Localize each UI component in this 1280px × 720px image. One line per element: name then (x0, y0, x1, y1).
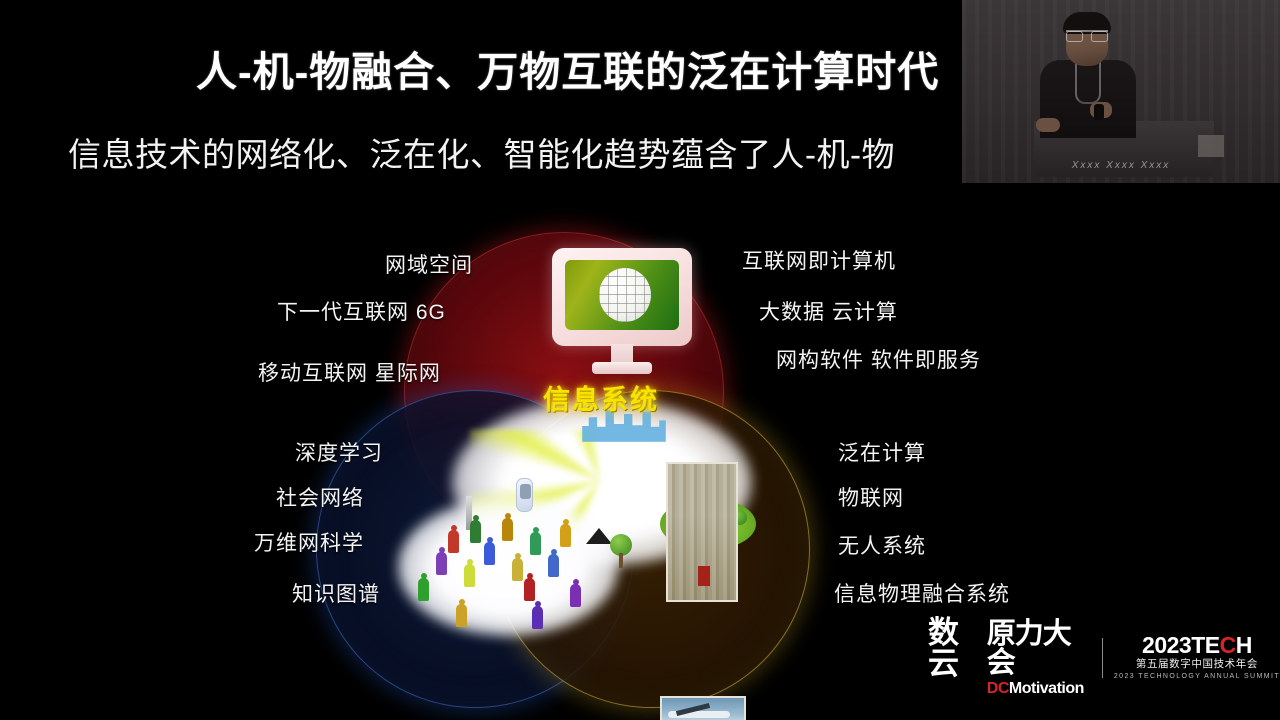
monitor-screen (565, 260, 679, 330)
keyword-bottom-right-1: 泛在计算 (838, 437, 926, 467)
video-caption: Xxxx Xxxx Xxxx (962, 160, 1280, 171)
person-figure (532, 606, 543, 629)
keyword-bottom-left-3: 万维网科学 (254, 527, 364, 557)
keyword-bottom-left-1: 深度学习 (295, 437, 383, 467)
person-figure (560, 524, 571, 547)
person-figure (436, 552, 447, 575)
keyword-bottom-right-4: 信息物理融合系统 (834, 578, 1010, 608)
logo-year-accent: C (1220, 632, 1236, 658)
person-figure (456, 604, 467, 627)
mobile-phone-icon (516, 478, 533, 512)
presenter-clicker (1094, 104, 1104, 120)
keyword-top-right-3: 网构软件 软件即服务 (776, 344, 981, 374)
slide-capture: 人-机-物融合、万物互联的泛在计算时代 信息技术的网络化、泛在化、智能化趋势蕴含… (0, 0, 1280, 720)
keyword-bottom-left-2: 社会网络 (276, 482, 364, 512)
conference-logo: 数云 原力大会 DCMotivation 2023TECH 第五届数字中国技术年… (928, 632, 1280, 684)
logo-right-lockup: 2023TECH 第五届数字中国技术年会 2023 TECHNOLOGY ANN… (1114, 634, 1280, 683)
page-subtitle: 信息技术的网络化、泛在化、智能化趋势蕴含了人-机-物 (68, 128, 978, 176)
keyword-top-left-3: 移动互联网 星际网 (258, 357, 441, 387)
logo-tagline-cn: 第五届数字中国技术年会 (1136, 657, 1258, 673)
keyword-top-right-2: 大数据 云计算 (759, 296, 898, 326)
tree-icon (608, 534, 634, 568)
person-figure (470, 520, 481, 543)
lanyard (1075, 62, 1101, 104)
logo-tagline-en: 2023 TECHNOLOGY ANNUAL SUMMIT (1114, 672, 1280, 682)
tree-trunk (619, 553, 623, 568)
logo-motivation-text: Motivation (1009, 680, 1084, 697)
logo-event-cn: 原力大会 (987, 620, 1091, 678)
logo-brand-cn: 数云 (928, 617, 984, 679)
keyword-bottom-left-4: 知识图谱 (292, 578, 380, 608)
page-title: 人-机-物融合、万物互联的泛在计算时代 (196, 38, 986, 98)
glasses-icon (1066, 30, 1108, 38)
podium-side-panel (1198, 135, 1224, 157)
person-figure (524, 578, 535, 601)
keyword-top-right-1: 互联网即计算机 (742, 245, 896, 275)
logo-year-tech: 2023TECH (1142, 634, 1252, 657)
logo-year-suffix: H (1236, 632, 1252, 658)
logo-event-en: DCMotivation (987, 679, 1091, 699)
venn-diagram: 信息系统 人类社会 物理系统 (0, 180, 1280, 680)
person-figure (548, 554, 559, 577)
person-figure (464, 564, 475, 587)
wireframe-globe-icon (599, 268, 651, 322)
keyword-top-left-1: 网域空间 (385, 249, 473, 279)
logo-brand-stack: 原力大会 DCMotivation (987, 620, 1091, 699)
phone-screen (520, 484, 531, 499)
monitor-stand-base (592, 362, 652, 374)
person-figure (530, 532, 541, 555)
venn-label-information-systems: 信息系统 (543, 378, 659, 417)
logo-dc-text: DC (987, 680, 1009, 697)
person-figure (418, 578, 429, 601)
person-figure (484, 542, 495, 565)
logo-year-prefix: 2023TE (1142, 632, 1220, 658)
keyword-top-left-2: 下一代互联网 6G (277, 296, 446, 326)
person-figure (448, 530, 459, 553)
people-network-graphic (412, 512, 608, 630)
computer-monitor-icon (552, 248, 692, 383)
speaker-hand-left (1036, 118, 1060, 132)
airplane-photo (660, 696, 746, 720)
person-figure (502, 518, 513, 541)
skyscraper-photo (666, 462, 738, 602)
logo-left-lockup: 数云 原力大会 DCMotivation (928, 617, 1091, 699)
person-figure (512, 558, 523, 581)
logo-divider (1102, 638, 1103, 678)
keyword-bottom-right-3: 无人系统 (838, 530, 926, 560)
tower-red-accent (698, 566, 710, 586)
person-figure (570, 584, 581, 607)
keyword-bottom-right-2: 物联网 (838, 482, 904, 512)
speaker-video-overlay[interactable]: Xxxx Xxxx Xxxx (962, 0, 1280, 183)
